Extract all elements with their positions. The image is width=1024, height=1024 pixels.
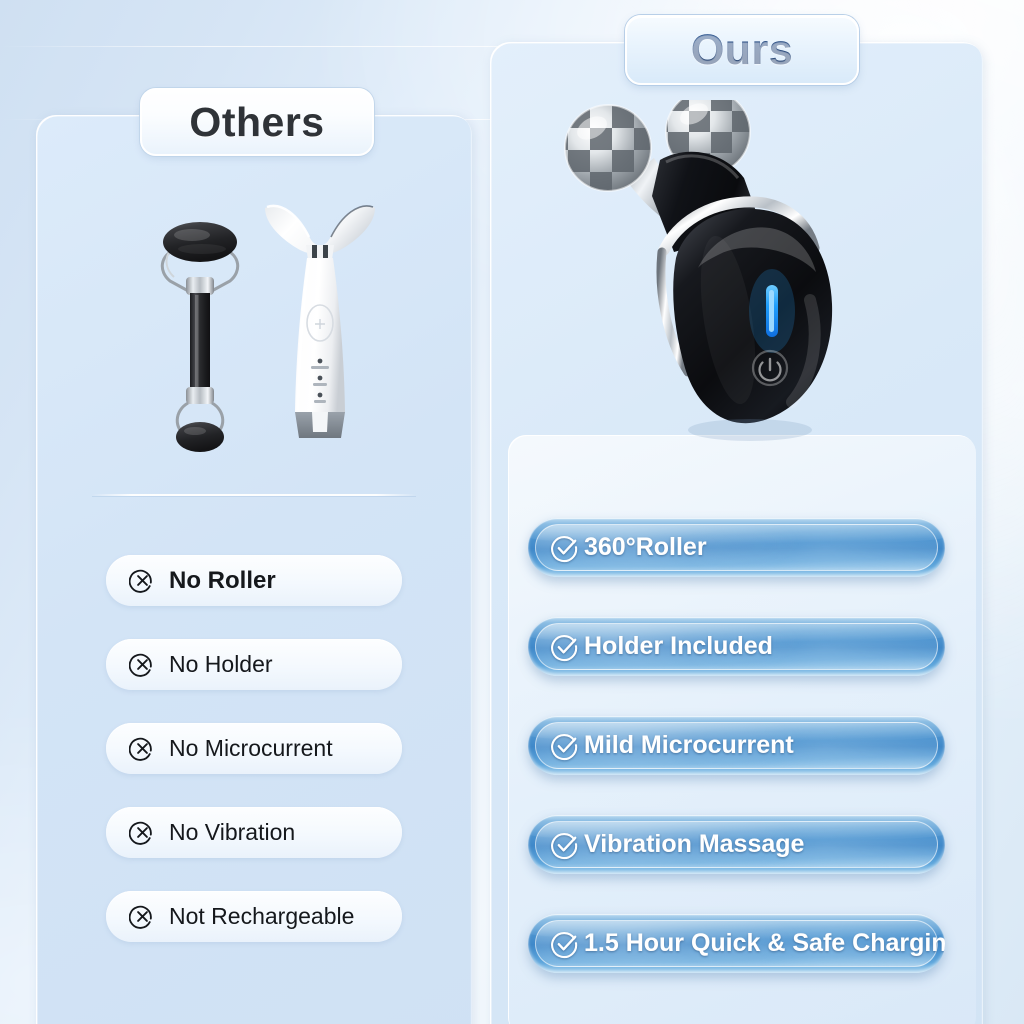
ours-feature-label: 1.5 Hour Quick & Safe Charging xyxy=(584,929,945,958)
others-feature-label: Not Rechargeable xyxy=(169,903,354,930)
x-circle-icon xyxy=(129,567,156,594)
ours-feature-item[interactable]: Holder Included xyxy=(528,617,945,676)
ours-feature-item[interactable]: Vibration Massage xyxy=(528,815,945,874)
face-roller-image xyxy=(152,215,248,455)
others-feature-label: No Vibration xyxy=(169,819,295,846)
infographic-stage: Others Ours No Roller No Holder No Micro… xyxy=(0,0,1024,1024)
check-circle-icon xyxy=(550,731,580,761)
x-circle-icon xyxy=(129,651,156,678)
ours-feature-item[interactable]: Mild Microcurrent xyxy=(528,716,945,775)
ours-badge-label: Ours xyxy=(691,26,793,75)
others-divider xyxy=(92,494,416,496)
others-feature-item[interactable]: No Microcurrent xyxy=(106,723,402,774)
ours-feature-label: 360°Roller xyxy=(584,533,707,562)
others-feature-item[interactable]: No Vibration xyxy=(106,807,402,858)
others-badge: Others xyxy=(140,88,374,156)
x-circle-icon xyxy=(129,735,156,762)
check-circle-icon xyxy=(550,533,580,563)
ours-feature-item[interactable]: 360°Roller xyxy=(528,518,945,577)
ours-feature-label: Vibration Massage xyxy=(584,830,804,859)
ours-feature-item[interactable]: 1.5 Hour Quick & Safe Charging xyxy=(528,914,945,973)
microcurrent-device-image xyxy=(548,100,864,450)
check-circle-icon xyxy=(550,632,580,662)
ours-feature-label: Holder Included xyxy=(584,632,773,661)
others-feature-item[interactable]: No Roller xyxy=(106,555,402,606)
neck-massager-image xyxy=(262,198,378,448)
others-feature-item[interactable]: Not Rechargeable xyxy=(106,891,402,942)
others-feature-label: No Roller xyxy=(169,567,276,595)
others-feature-item[interactable]: No Holder xyxy=(106,639,402,690)
x-circle-icon xyxy=(129,903,156,930)
ours-badge: Ours xyxy=(625,15,859,85)
others-feature-label: No Holder xyxy=(169,651,273,678)
others-feature-label: No Microcurrent xyxy=(169,735,333,762)
check-circle-icon xyxy=(550,929,580,959)
others-badge-label: Others xyxy=(189,99,324,146)
ours-feature-label: Mild Microcurrent xyxy=(584,731,794,760)
check-circle-icon xyxy=(550,830,580,860)
x-circle-icon xyxy=(129,819,156,846)
